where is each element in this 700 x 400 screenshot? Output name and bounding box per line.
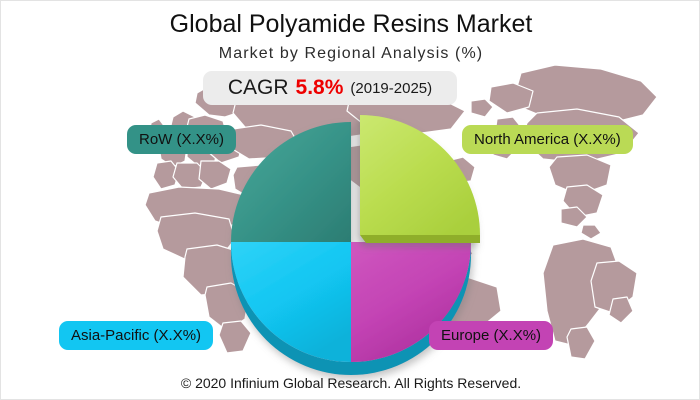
- cagr-value: 5.8%: [296, 76, 344, 100]
- cagr-period: (2019-2025): [350, 80, 432, 97]
- pie-slice-asia-pacific[interactable]: [231, 242, 351, 362]
- cagr-badge: CAGR 5.8% (2019-2025): [203, 71, 457, 105]
- infographic-canvas: Global Polyamide Resins Market Market by…: [0, 0, 700, 400]
- copyright-footer: © 2020 Infinium Global Research. All Rig…: [1, 375, 700, 391]
- pie-slice-row[interactable]: [231, 122, 351, 242]
- page-subtitle: Market by Regional Analysis (%): [1, 44, 700, 64]
- page-title: Global Polyamide Resins Market: [1, 9, 700, 39]
- legend-label-north-america[interactable]: North America (X.X%): [462, 125, 633, 154]
- legend-label-asia-pacific[interactable]: Asia-Pacific (X.X%): [59, 321, 213, 350]
- legend-label-row[interactable]: RoW (X.X%): [127, 125, 236, 154]
- pie-slice-north-america-edge: [360, 235, 480, 243]
- legend-label-europe[interactable]: Europe (X.X%): [429, 321, 553, 350]
- cagr-label: CAGR: [228, 76, 289, 100]
